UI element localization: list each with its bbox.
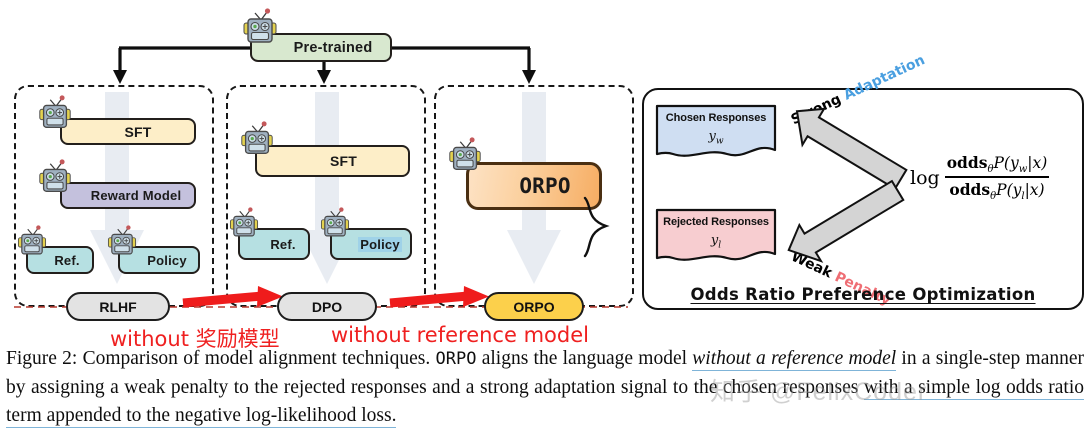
pill-orpo[interactable]: ORPO [484,292,584,321]
transition-label-2: without reference model [331,323,589,347]
penalty-arrow [776,175,916,275]
robot-icon [446,134,484,178]
robot-icon [36,92,74,136]
caption-part4: chosen responses [723,377,864,398]
robot-icon [227,204,261,244]
robot-icon [318,204,352,244]
red-arrow-1 [183,286,283,307]
pill-label: RLHF [99,299,136,315]
robot-icon [238,118,276,162]
pill-label: DPO [312,299,342,315]
robot-icon [105,222,139,262]
caption-part2: aligns the language model [476,348,692,369]
transition-label-1: without 奖励模型 [110,323,280,353]
robot-icon [15,222,49,262]
figure-caption: Figure 2: Comparison of model alignment … [6,345,1084,431]
pill-rlhf[interactable]: RLHF [66,292,170,321]
caption-emphasis-1: without a reference model [692,348,896,371]
robot-icon [36,156,74,200]
caption-mono-term: ORPO [435,349,476,369]
pill-label: ORPO [513,299,554,315]
red-arrow-2 [390,286,489,307]
pill-dpo[interactable]: DPO [277,292,377,321]
figure-canvas: Pre-trained SFT Re [0,0,1089,434]
